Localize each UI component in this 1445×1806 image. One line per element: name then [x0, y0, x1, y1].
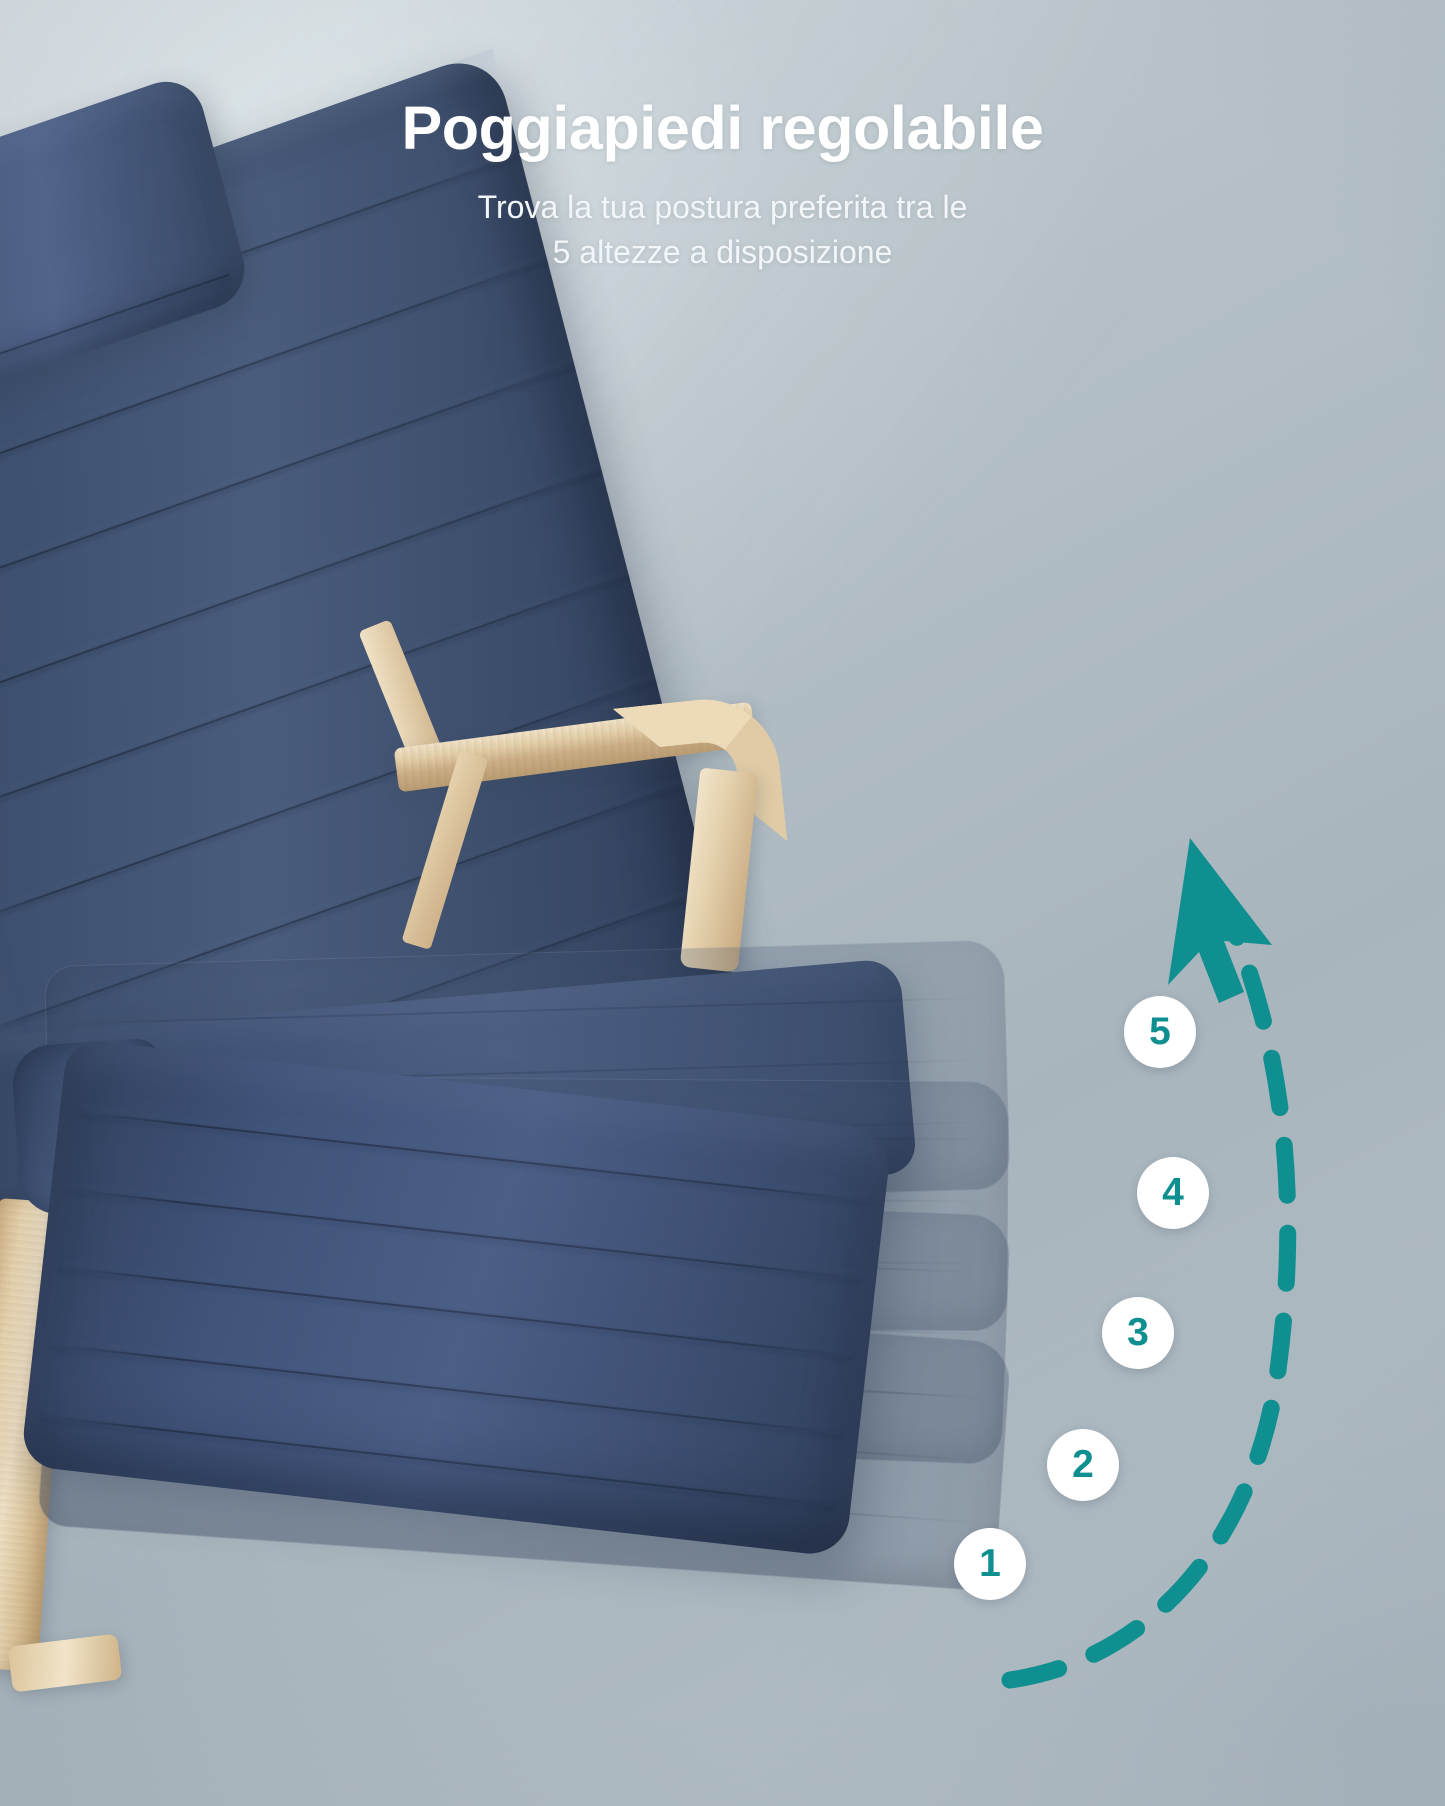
height-badge-2-label: 2 [1072, 1443, 1094, 1487]
height-badge-3: 3 [1102, 1297, 1174, 1369]
height-badge-1-label: 1 [979, 1542, 1001, 1586]
height-badge-4: 4 [1137, 1157, 1209, 1229]
height-badge-4-label: 4 [1162, 1171, 1184, 1215]
height-badge-3-label: 3 [1127, 1311, 1149, 1355]
adjustment-annotation-layer: 5 4 3 2 1 [0, 0, 1445, 1806]
height-badge-1: 1 [954, 1528, 1026, 1600]
height-badge-5-label: 5 [1149, 1010, 1171, 1054]
product-feature-image: 5 4 3 2 1 Poggiapiedi regolabile Trova l… [0, 0, 1445, 1806]
height-badge-5: 5 [1124, 996, 1196, 1068]
adjustment-arrow-svg [0, 0, 1445, 1806]
height-badge-2: 2 [1047, 1429, 1119, 1501]
